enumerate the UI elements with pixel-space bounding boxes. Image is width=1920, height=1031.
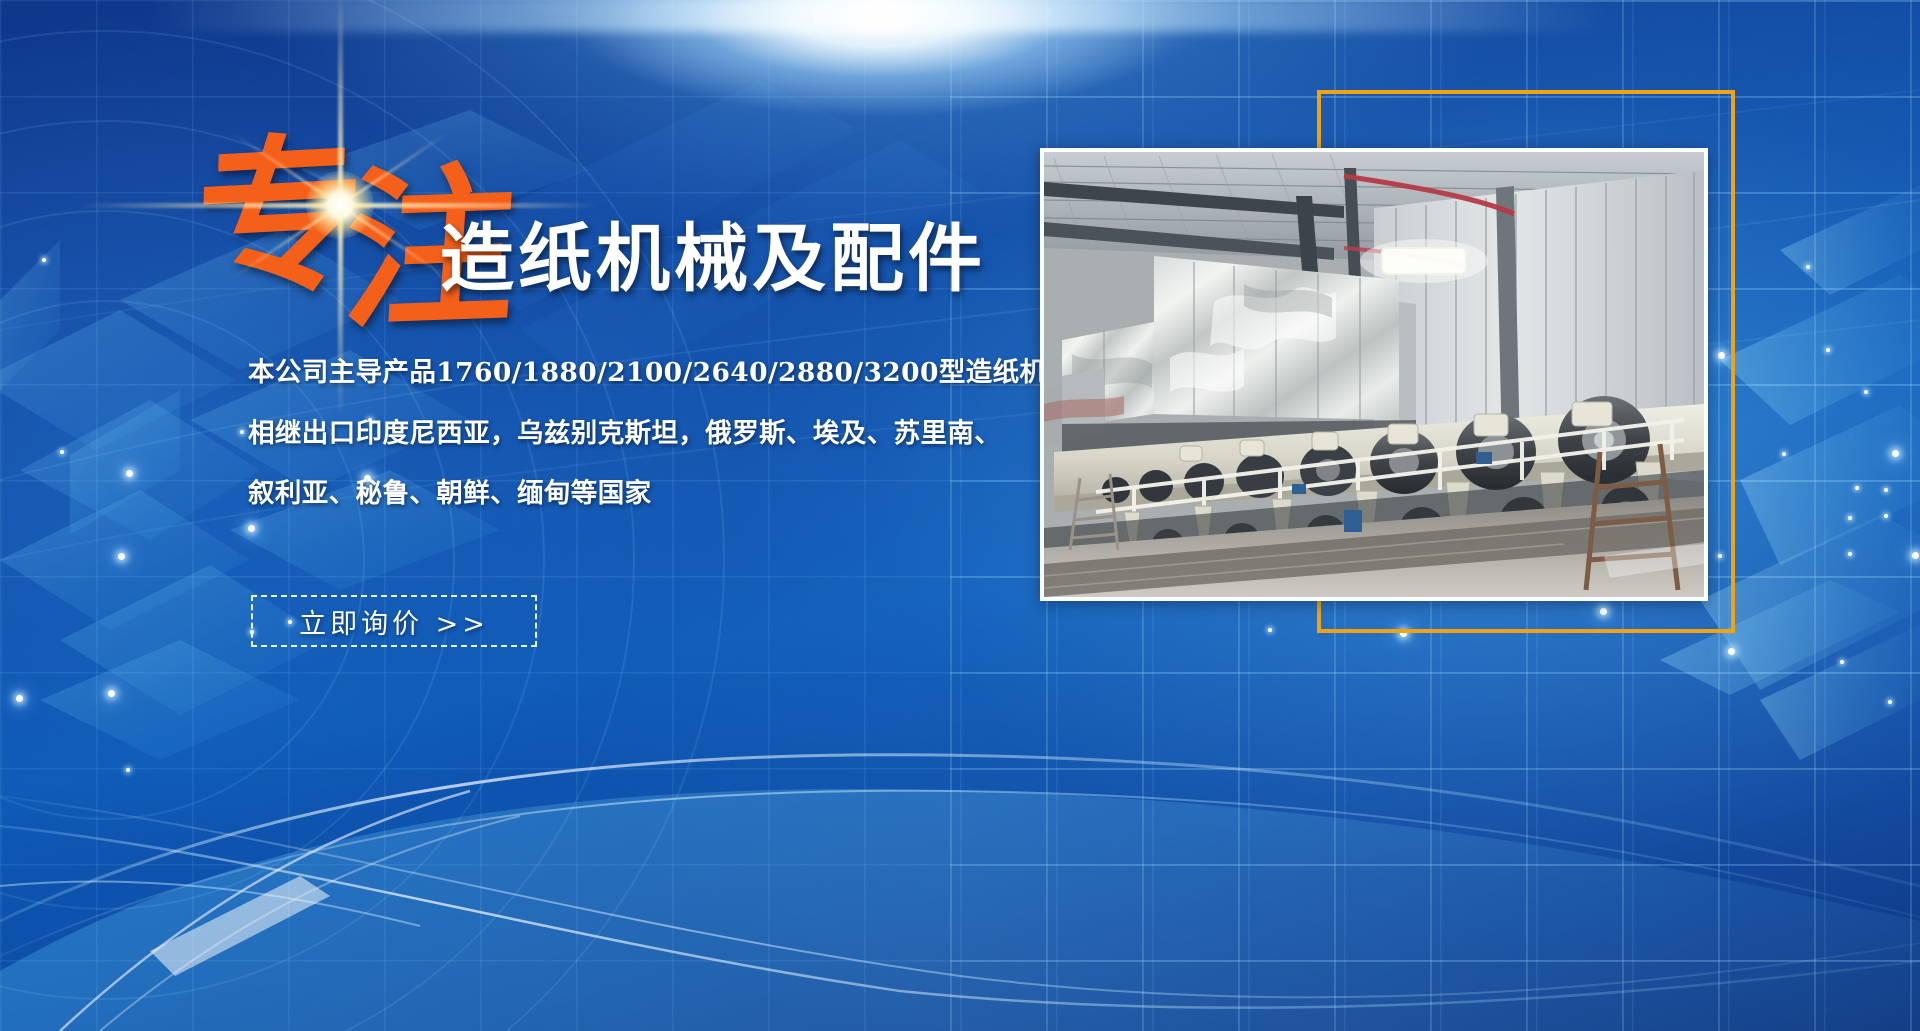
hero-banner: 专 注 造纸机械及配件 本公司主导产品1760/1880/2100/2640/2… <box>0 0 1920 1031</box>
description-line: 本公司主导产品1760/1880/2100/2640/2880/3200型造纸机 <box>248 360 1008 387</box>
description-line: 叙利亚、秘鲁、朝鲜、缅甸等国家 <box>248 481 1008 508</box>
description-block: 本公司主导产品1760/1880/2100/2640/2880/3200型造纸机… <box>248 360 1008 542</box>
product-photo-illustration <box>1044 152 1704 597</box>
hero-left-content: 专 注 造纸机械及配件 本公司主导产品1760/1880/2100/2640/2… <box>0 0 1050 1031</box>
product-photo[interactable] <box>1040 148 1708 601</box>
page-title: 造纸机械及配件 <box>440 222 986 296</box>
inquiry-button[interactable]: 立即询价 >> <box>251 595 537 647</box>
description-line: 相继出口印度尼西亚，乌兹别克斯坦，俄罗斯、埃及、苏里南、 <box>248 421 1008 448</box>
inquiry-button-label: 立即询价 >> <box>299 602 489 641</box>
